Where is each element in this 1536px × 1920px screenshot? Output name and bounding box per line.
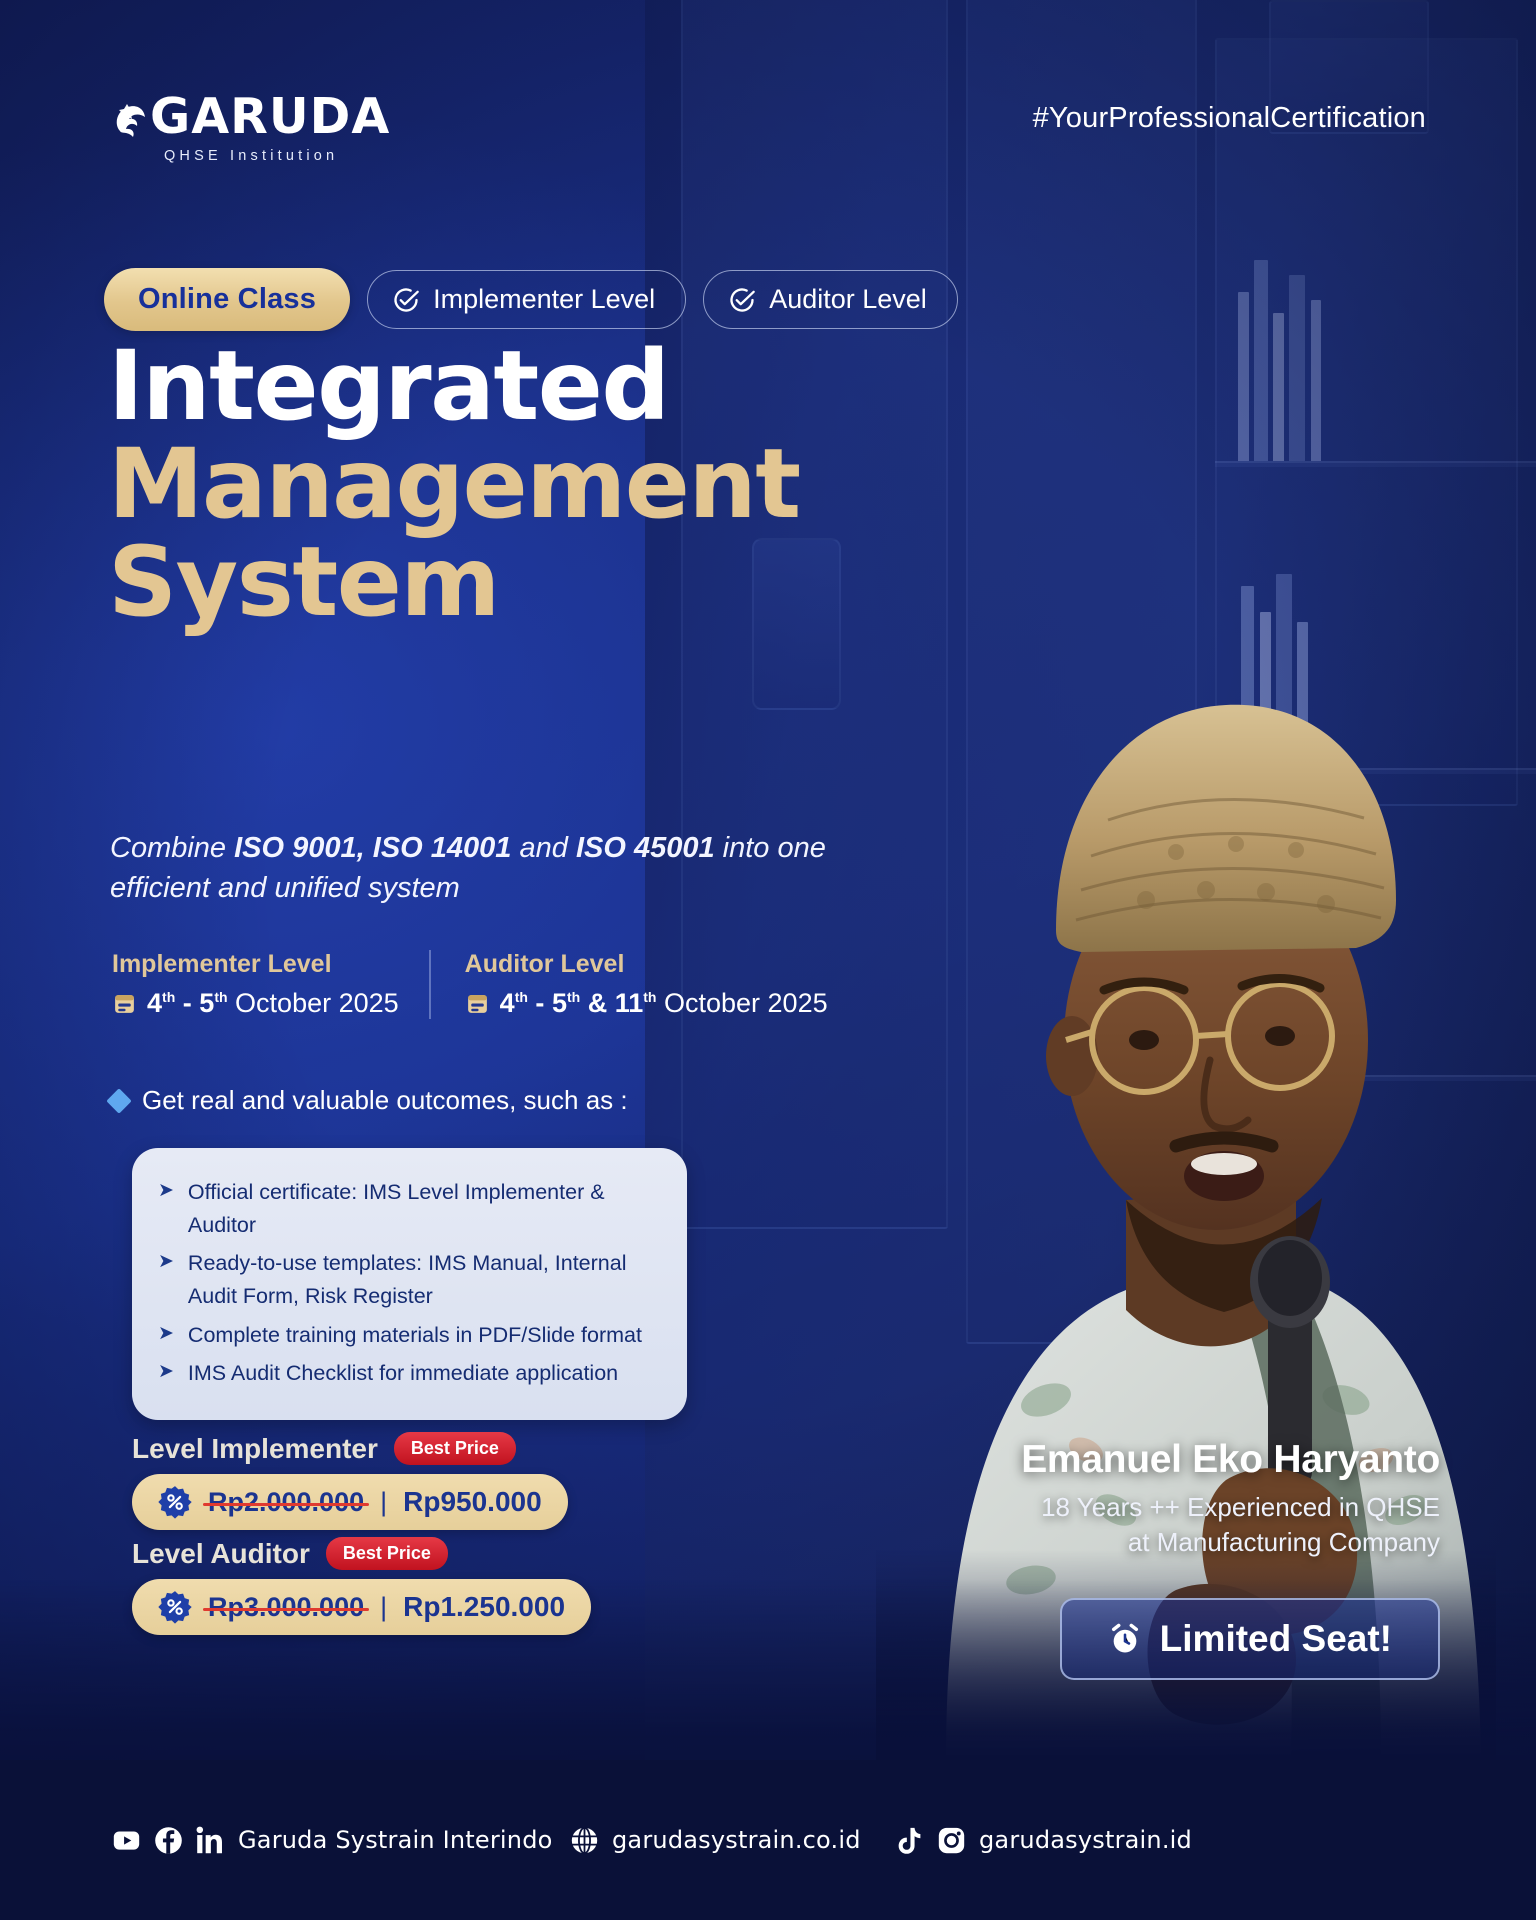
date-2-dash: - [535,988,544,1018]
facebook-icon[interactable] [154,1826,183,1855]
chevron-right-icon: ➤ [158,1176,174,1241]
list-item: ➤ Ready-to-use templates: IMS Manual, In… [158,1247,659,1312]
list-item: ➤ IMS Audit Checklist for immediate appl… [158,1357,659,1390]
date-1-dash: - [183,988,192,1018]
page-title: Integrated Management System [108,338,800,632]
tiktok-icon[interactable] [895,1826,924,1855]
benefit-text-4: IMS Audit Checklist for immediate applic… [188,1357,618,1390]
speaker-info: Emanuel Eko Haryanto 18 Years ++ Experie… [1021,1438,1440,1560]
footer-website-text: garudasystrain.co.id [612,1826,861,1854]
price-title-auditor: Level Auditor [132,1538,310,1570]
price-old-implementer: Rp2.000.000 [208,1487,364,1518]
date-2-day2: 5 [552,988,567,1018]
chevron-right-icon: ➤ [158,1319,174,1352]
check-circle-icon [728,286,756,314]
benefits-card: ➤ Official certificate: IMS Level Implem… [132,1148,687,1420]
date-2-sup2: th [567,989,580,1005]
badge-auditor-level[interactable]: Auditor Level [703,270,958,329]
date-1-sup2: th [214,989,227,1005]
subtitle-pre: Combine [110,832,234,864]
date-2-month: October 2025 [664,988,828,1018]
speaker-description: 18 Years ++ Experienced in QHSE at Manuf… [1021,1490,1440,1560]
check-circle-icon [392,286,420,314]
badge-online-class[interactable]: Online Class [104,268,350,331]
poster-root: GARUDA QHSE Institution #YourProfessiona… [0,0,1536,1920]
instagram-icon[interactable] [937,1826,966,1855]
logo-wordmark: GARUDA [150,88,390,145]
brand-logo[interactable]: GARUDA QHSE Institution [112,88,390,164]
date-auditor-label: Auditor Level [465,950,828,979]
date-2-amp: & [588,988,608,1018]
price-header-auditor: Level Auditor Best Price [132,1537,591,1570]
garuda-bird-icon [112,97,150,145]
price-separator: | [380,1592,387,1623]
title-line-2: Management [108,436,800,534]
title-line-1: Integrated [108,338,800,436]
outcomes-heading: Get real and valuable outcomes, such as … [110,1085,628,1116]
globe-icon[interactable] [570,1826,599,1855]
subtitle-iso-1: ISO 9001, ISO 14001 [234,832,511,864]
list-item: ➤ Official certificate: IMS Level Implem… [158,1176,659,1241]
list-item: ➤ Complete training materials in PDF/Sli… [158,1319,659,1352]
badge-implementer-level[interactable]: Implementer Level [367,270,686,329]
date-1-day2: 5 [199,988,214,1018]
price-title-implementer: Level Implementer [132,1433,378,1465]
price-card-auditor: Level Auditor Best Price Rp3.000.000 | R… [132,1537,591,1635]
price-pill-implementer[interactable]: Rp2.000.000 | Rp950.000 [132,1474,568,1530]
footer-social-text: Garuda Systrain Interindo [238,1826,553,1854]
limited-seat-label: Limited Seat! [1160,1618,1392,1660]
subtitle: Combine ISO 9001, ISO 14001 and ISO 4500… [110,828,830,908]
diamond-bullet-icon [106,1088,131,1113]
date-auditor-value: 4th - 5th & 11th October 2025 [465,988,828,1019]
date-1-day1: 4 [147,988,162,1018]
speaker-desc-line-2: at Manufacturing Company [1021,1525,1440,1560]
footer-instagram-group[interactable]: garudasystrain.id [895,1826,1192,1855]
benefit-text-3: Complete training materials in PDF/Slide… [188,1319,642,1352]
chevron-right-icon: ➤ [158,1357,174,1390]
calendar-icon [112,991,137,1016]
footer-website-group[interactable]: garudasystrain.co.id [570,1826,861,1855]
date-implementer: Implementer Level 4th - 5th October 2025 [112,950,429,1019]
date-implementer-value: 4th - 5th October 2025 [112,988,399,1019]
date-2-day3: 11 [615,988,644,1018]
badge-auditor-label: Auditor Level [769,284,927,315]
alarm-clock-icon [1108,1622,1142,1656]
footer-bar: Garuda Systrain Interindo garudasystrain… [0,1760,1536,1920]
benefit-text-1: Official certificate: IMS Level Implemen… [188,1176,659,1241]
badge-implementer-label: Implementer Level [433,284,655,315]
calendar-icon [465,991,490,1016]
linkedin-icon[interactable] [196,1826,225,1855]
hashtag-text: #YourProfessionalCertification [1033,102,1426,135]
price-old-auditor: Rp3.000.000 [208,1592,364,1623]
footer-social-group[interactable]: Garuda Systrain Interindo [112,1826,553,1855]
subtitle-iso-2: ISO 45001 [576,832,715,864]
outcomes-heading-text: Get real and valuable outcomes, such as … [142,1085,628,1116]
title-line-3: System [108,534,800,632]
subtitle-mid: and [511,832,576,864]
price-header-implementer: Level Implementer Best Price [132,1432,568,1465]
status-badge: Best Price [326,1537,448,1570]
chevron-right-icon: ➤ [158,1247,174,1312]
date-2-sup1: th [515,989,528,1005]
price-new-implementer: Rp950.000 [403,1486,542,1518]
speaker-desc-line-1: 18 Years ++ Experienced in QHSE [1021,1490,1440,1525]
discount-badge-icon [158,1590,192,1624]
date-implementer-label: Implementer Level [112,950,399,979]
footer-instagram-text: garudasystrain.id [979,1826,1192,1854]
status-badge: Best Price [394,1432,516,1465]
benefit-text-2: Ready-to-use templates: IMS Manual, Inte… [188,1247,659,1312]
date-2-sup3: th [643,989,656,1005]
price-card-implementer: Level Implementer Best Price Rp2.000.000… [132,1432,568,1530]
logo-subtitle: QHSE Institution [112,148,390,164]
logo-mark: GARUDA [112,88,390,145]
discount-badge-icon [158,1485,192,1519]
speaker-name: Emanuel Eko Haryanto [1021,1438,1440,1482]
youtube-icon[interactable] [112,1826,141,1855]
dates-row: Implementer Level 4th - 5th October 2025… [112,950,858,1019]
date-auditor: Auditor Level 4th - 5th & 11th October 2… [429,950,858,1019]
badge-row: Online Class Implementer Level Auditor L… [104,268,958,331]
date-2-day1: 4 [500,988,515,1018]
price-separator: | [380,1487,387,1518]
date-1-sup1: th [162,989,175,1005]
speaker-photo [876,500,1496,1760]
limited-seat-button[interactable]: Limited Seat! [1060,1598,1440,1680]
date-1-month: October 2025 [235,988,399,1018]
price-new-auditor: Rp1.250.000 [403,1591,565,1623]
price-pill-auditor[interactable]: Rp3.000.000 | Rp1.250.000 [132,1579,591,1635]
